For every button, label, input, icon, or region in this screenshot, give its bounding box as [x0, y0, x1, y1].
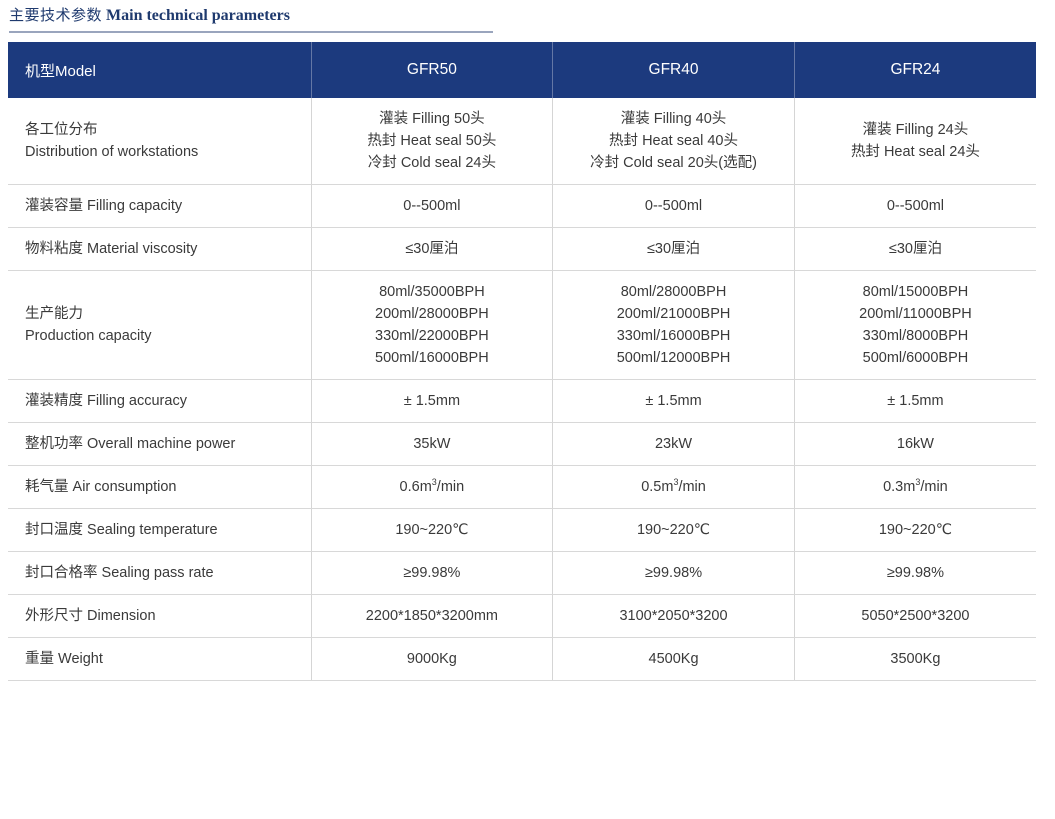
row-label-cell: 重量 Weight: [8, 638, 311, 681]
value-line: 灌装 Filling 50头: [318, 108, 547, 130]
table-row: 各工位分布Distribution of workstations灌装 Fill…: [8, 98, 1036, 185]
value-cell-gfr24: ≥99.98%: [794, 552, 1036, 595]
value-line: ≤30厘泊: [559, 238, 788, 260]
value-cell-gfr24: 3500Kg: [794, 638, 1036, 681]
value-cell-gfr50: ≥99.98%: [311, 552, 553, 595]
value-line: 热封 Heat seal 24头: [801, 141, 1030, 163]
row-label-chinese: 灌装精度: [25, 393, 83, 409]
value-line: 冷封 Cold seal 24头: [318, 152, 547, 174]
row-label-cell: 灌装精度 Filling accuracy: [8, 380, 311, 423]
column-header-gfr50: GFR50: [311, 42, 553, 98]
value-line: ≥99.98%: [318, 562, 547, 584]
value-cell-gfr24: 80ml/15000BPH200ml/11000BPH330ml/8000BPH…: [794, 271, 1036, 380]
table-row: 重量 Weight9000Kg4500Kg3500Kg: [8, 638, 1036, 681]
row-label-english: Dimension: [83, 608, 156, 624]
row-label-chinese: 重量: [25, 651, 54, 667]
title-divider: [9, 31, 493, 33]
value-line: 500ml/6000BPH: [801, 347, 1030, 369]
value-cell-gfr50: 80ml/35000BPH200ml/28000BPH330ml/22000BP…: [311, 271, 553, 380]
page-title-english: Main technical parameters: [106, 7, 290, 24]
table-row: 耗气量 Air consumption0.6m3/min0.5m3/min0.3…: [8, 466, 1036, 509]
value-cell-gfr40: 3100*2050*3200: [553, 595, 795, 638]
value-line: 9000Kg: [318, 648, 547, 670]
page-title: 主要技术参数Main technical parameters: [9, 6, 1055, 26]
value-cell-gfr24: ± 1.5mm: [794, 380, 1036, 423]
value-cell-gfr50: 2200*1850*3200mm: [311, 595, 553, 638]
value-line: 热封 Heat seal 40头: [559, 130, 788, 152]
table-row: 封口合格率 Sealing pass rate≥99.98%≥99.98%≥99…: [8, 552, 1036, 595]
table-row: 生产能力Production capacity80ml/35000BPH200m…: [8, 271, 1036, 380]
value-line: 0.6m3/min: [318, 476, 547, 498]
value-cell-gfr40: ± 1.5mm: [553, 380, 795, 423]
value-cell-gfr40: 23kW: [553, 423, 795, 466]
value-line: 0.5m3/min: [559, 476, 788, 498]
spec-table-wrapper: 机型Model GFR50 GFR40 GFR24 各工位分布Distribut…: [0, 42, 1047, 681]
value-line: 35kW: [318, 433, 547, 455]
value-line: 热封 Heat seal 50头: [318, 130, 547, 152]
row-label-chinese: 整机功率: [25, 436, 83, 452]
value-cell-gfr40: 0--500ml: [553, 185, 795, 228]
row-label-cell: 封口温度 Sealing temperature: [8, 509, 311, 552]
column-header-model: 机型Model: [8, 42, 311, 98]
value-line: 500ml/12000BPH: [559, 347, 788, 369]
value-line: ≤30厘泊: [318, 238, 547, 260]
row-label-chinese: 物料粘度: [25, 241, 83, 257]
value-cell-gfr40: ≤30厘泊: [553, 228, 795, 271]
row-label-english: Weight: [54, 651, 103, 667]
value-line: 330ml/16000BPH: [559, 325, 788, 347]
value-line: 16kW: [801, 433, 1030, 455]
page-title-block: 主要技术参数Main technical parameters: [0, 0, 1055, 33]
table-row: 封口温度 Sealing temperature190~220℃190~220℃…: [8, 509, 1036, 552]
table-row: 外形尺寸 Dimension2200*1850*3200mm3100*2050*…: [8, 595, 1036, 638]
value-cell-gfr24: 灌装 Filling 24头热封 Heat seal 24头: [794, 98, 1036, 185]
value-line: 190~220℃: [801, 519, 1030, 541]
row-label-english: Distribution of workstations: [25, 141, 303, 163]
value-cell-gfr40: 80ml/28000BPH200ml/21000BPH330ml/16000BP…: [553, 271, 795, 380]
value-line: ± 1.5mm: [559, 390, 788, 412]
row-label-chinese: 耗气量: [25, 479, 69, 495]
row-label-chinese: 封口合格率: [25, 565, 98, 581]
value-line: ≥99.98%: [801, 562, 1030, 584]
row-label-cell: 物料粘度 Material viscosity: [8, 228, 311, 271]
value-cell-gfr50: 9000Kg: [311, 638, 553, 681]
column-header-gfr24: GFR24: [794, 42, 1036, 98]
row-label-cell: 封口合格率 Sealing pass rate: [8, 552, 311, 595]
value-cell-gfr50: 0--500ml: [311, 185, 553, 228]
table-row: 灌装精度 Filling accuracy± 1.5mm± 1.5mm± 1.5…: [8, 380, 1036, 423]
value-line: 200ml/21000BPH: [559, 303, 788, 325]
table-row: 整机功率 Overall machine power35kW23kW16kW: [8, 423, 1036, 466]
table-row: 物料粘度 Material viscosity≤30厘泊≤30厘泊≤30厘泊: [8, 228, 1036, 271]
value-line: 冷封 Cold seal 20头(选配): [559, 152, 788, 174]
page-title-chinese: 主要技术参数: [9, 7, 102, 24]
table-body: 各工位分布Distribution of workstations灌装 Fill…: [8, 98, 1036, 681]
value-cell-gfr24: 5050*2500*3200: [794, 595, 1036, 638]
value-line: 200ml/11000BPH: [801, 303, 1030, 325]
value-line: ≤30厘泊: [801, 238, 1030, 260]
value-line: 80ml/35000BPH: [318, 281, 547, 303]
value-line: ≥99.98%: [559, 562, 788, 584]
value-line: 330ml/8000BPH: [801, 325, 1030, 347]
value-line: 5050*2500*3200: [801, 605, 1030, 627]
row-label-english: Air consumption: [69, 479, 177, 495]
row-label-chinese: 封口温度: [25, 522, 83, 538]
value-cell-gfr50: ± 1.5mm: [311, 380, 553, 423]
value-line: 0--500ml: [801, 195, 1030, 217]
value-cell-gfr24: 190~220℃: [794, 509, 1036, 552]
value-cell-gfr40: ≥99.98%: [553, 552, 795, 595]
value-line: ± 1.5mm: [318, 390, 547, 412]
value-line: 190~220℃: [559, 519, 788, 541]
row-label-chinese: 灌装容量: [25, 198, 83, 214]
table-header: 机型Model GFR50 GFR40 GFR24: [8, 42, 1036, 98]
value-line: 200ml/28000BPH: [318, 303, 547, 325]
main-technical-parameters-table: 机型Model GFR50 GFR40 GFR24 各工位分布Distribut…: [8, 42, 1036, 681]
row-label-english: Material viscosity: [83, 241, 197, 257]
value-line: 80ml/15000BPH: [801, 281, 1030, 303]
row-label-english: Overall machine power: [83, 436, 235, 452]
row-label-cell: 外形尺寸 Dimension: [8, 595, 311, 638]
value-line: 190~220℃: [318, 519, 547, 541]
row-label-chinese: 外形尺寸: [25, 608, 83, 624]
value-line: 23kW: [559, 433, 788, 455]
column-header-gfr40: GFR40: [553, 42, 795, 98]
value-line: 3500Kg: [801, 648, 1030, 670]
value-cell-gfr24: 16kW: [794, 423, 1036, 466]
row-label-english: Sealing pass rate: [98, 565, 214, 581]
table-header-row: 机型Model GFR50 GFR40 GFR24: [8, 42, 1036, 98]
table-row: 灌装容量 Filling capacity0--500ml0--500ml0--…: [8, 185, 1036, 228]
value-cell-gfr40: 4500Kg: [553, 638, 795, 681]
value-cell-gfr50: 190~220℃: [311, 509, 553, 552]
value-cell-gfr24: 0--500ml: [794, 185, 1036, 228]
value-cell-gfr24: ≤30厘泊: [794, 228, 1036, 271]
row-label-english: Sealing temperature: [83, 522, 218, 538]
value-line: 灌装 Filling 40头: [559, 108, 788, 130]
value-line: 4500Kg: [559, 648, 788, 670]
value-line: 3100*2050*3200: [559, 605, 788, 627]
value-line: 0--500ml: [318, 195, 547, 217]
value-line: 0.3m3/min: [801, 476, 1030, 498]
row-label-chinese: 生产能力: [25, 303, 303, 325]
value-line: 330ml/22000BPH: [318, 325, 547, 347]
value-line: 80ml/28000BPH: [559, 281, 788, 303]
value-cell-gfr40: 190~220℃: [553, 509, 795, 552]
value-line: 500ml/16000BPH: [318, 347, 547, 369]
row-label-english: Production capacity: [25, 325, 303, 347]
value-line: 2200*1850*3200mm: [318, 605, 547, 627]
value-cell-gfr50: 0.6m3/min: [311, 466, 553, 509]
row-label-cell: 各工位分布Distribution of workstations: [8, 98, 311, 185]
value-cell-gfr50: 灌装 Filling 50头热封 Heat seal 50头冷封 Cold se…: [311, 98, 553, 185]
row-label-cell: 灌装容量 Filling capacity: [8, 185, 311, 228]
row-label-cell: 整机功率 Overall machine power: [8, 423, 311, 466]
row-label-cell: 生产能力Production capacity: [8, 271, 311, 380]
value-cell-gfr40: 灌装 Filling 40头热封 Heat seal 40头冷封 Cold se…: [553, 98, 795, 185]
value-line: 灌装 Filling 24头: [801, 119, 1030, 141]
value-cell-gfr50: ≤30厘泊: [311, 228, 553, 271]
value-cell-gfr40: 0.5m3/min: [553, 466, 795, 509]
value-cell-gfr50: 35kW: [311, 423, 553, 466]
row-label-english: Filling capacity: [83, 198, 182, 214]
row-label-cell: 耗气量 Air consumption: [8, 466, 311, 509]
value-line: ± 1.5mm: [801, 390, 1030, 412]
row-label-chinese: 各工位分布: [25, 119, 303, 141]
row-label-english: Filling accuracy: [83, 393, 187, 409]
value-cell-gfr24: 0.3m3/min: [794, 466, 1036, 509]
value-line: 0--500ml: [559, 195, 788, 217]
